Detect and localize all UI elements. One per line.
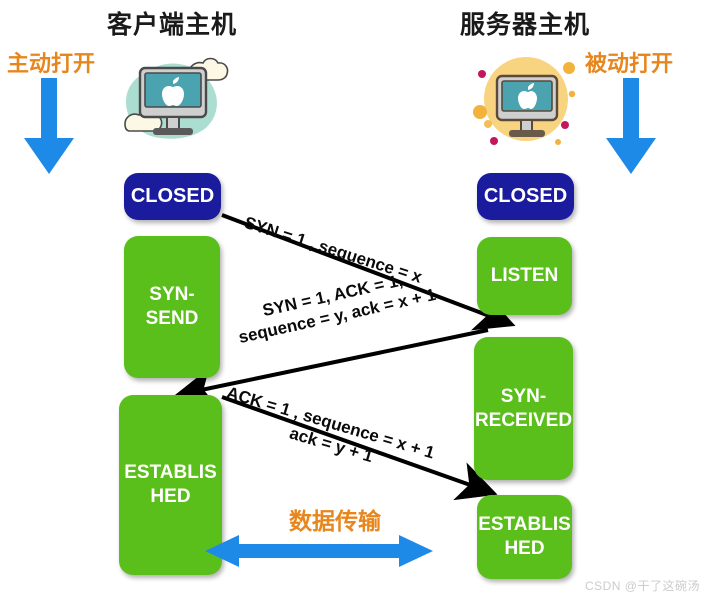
state-label-line2: RECEIVED	[475, 410, 572, 431]
state-label: SYN- SEND	[146, 283, 199, 331]
active-open-label: 主动打开	[7, 46, 95, 78]
client-state-syn-send: SYN- SEND	[124, 236, 220, 378]
server-state-syn-received: SYN- RECEIVED	[474, 337, 573, 480]
server-state-established: ESTABLIS HED	[477, 495, 572, 579]
state-label: SYN- RECEIVED	[475, 385, 572, 433]
state-label-line1: ESTABLIS	[124, 462, 217, 483]
state-label: LISTEN	[491, 264, 559, 288]
state-label: CLOSED	[484, 184, 567, 209]
message-label-syn-ack: SYN = 1, ACK = 1, sequence = y, ack = x …	[232, 263, 438, 348]
arrow-down-icon	[16, 78, 82, 181]
data-transfer-label: 数据传输	[289, 502, 381, 536]
state-label-line1: SYN-	[149, 284, 194, 305]
state-label-line2: SEND	[146, 308, 199, 329]
message-label-ack: ACK = 1 , sequence = x + 1 ack = y + 1	[218, 382, 437, 484]
tcp-handshake-diagram: 客户端主机 服务器主机 主动打开 被动打开	[0, 0, 709, 598]
imac-circle-icon	[466, 46, 584, 161]
state-label: ESTABLIS HED	[478, 513, 571, 561]
imac-cloud-icon	[113, 46, 231, 161]
server-host-title: 服务器主机	[460, 5, 590, 41]
watermark: CSDN @干了这碗汤	[585, 577, 700, 594]
state-label-line1: SYN-	[501, 386, 546, 407]
client-host-title: 客户端主机	[107, 5, 237, 41]
state-label-line2: HED	[504, 538, 544, 559]
passive-open-label: 被动打开	[585, 46, 673, 78]
state-label-line1: ESTABLIS	[478, 514, 571, 535]
arrow-left-right-icon	[205, 533, 433, 574]
arrow-down-icon	[598, 78, 664, 181]
state-label: ESTABLIS HED	[124, 461, 217, 509]
message-arrow-syn-ack	[182, 330, 488, 394]
client-state-closed: CLOSED	[124, 173, 221, 220]
state-label-line2: HED	[150, 486, 190, 507]
state-label: CLOSED	[131, 184, 214, 209]
server-state-listen: LISTEN	[477, 237, 572, 315]
server-state-closed: CLOSED	[477, 173, 574, 220]
